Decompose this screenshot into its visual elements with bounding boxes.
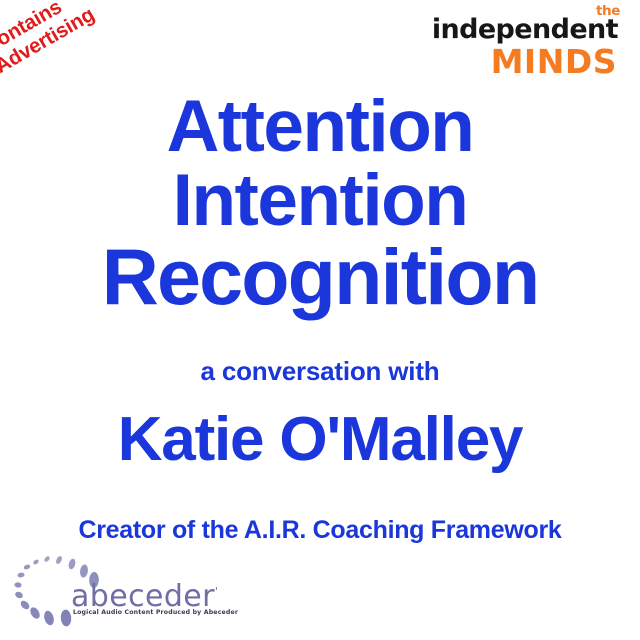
- title-line-intention: Intention: [0, 166, 640, 235]
- abeceder-logo: abeceder' Logical Audio Content Produced…: [14, 554, 204, 632]
- the-superscript-label: the: [596, 5, 620, 19]
- advertising-sticker-line-2: Advertising: [0, 0, 133, 79]
- abeceder-trademark-mark: ': [215, 585, 218, 598]
- minds-wordmark: MINDS: [432, 45, 617, 78]
- independent-minds-top-row: independent the: [432, 16, 618, 43]
- title-line-attention: Attention: [0, 92, 640, 161]
- audiobook-cover: Contains Advertising independent the MIN…: [0, 0, 640, 640]
- advertising-sticker-line-1: Contains: [0, 0, 121, 59]
- abeceder-tagline: Logical Audio Content Produced by Abeced…: [73, 609, 238, 616]
- guest-role: Creator of the A.I.R. Coaching Framework: [0, 516, 640, 545]
- title-line-recognition: Recognition: [0, 239, 640, 314]
- conversation-with-label: a conversation with: [0, 356, 640, 387]
- title-block: Attention Intention Recognition: [0, 92, 640, 314]
- independent-minds-logo: independent the MINDS: [432, 16, 618, 78]
- guest-name: Katie O'Malley: [0, 404, 640, 475]
- independent-wordmark: independent: [432, 16, 618, 43]
- abeceder-wordmark: abeceder': [71, 582, 218, 612]
